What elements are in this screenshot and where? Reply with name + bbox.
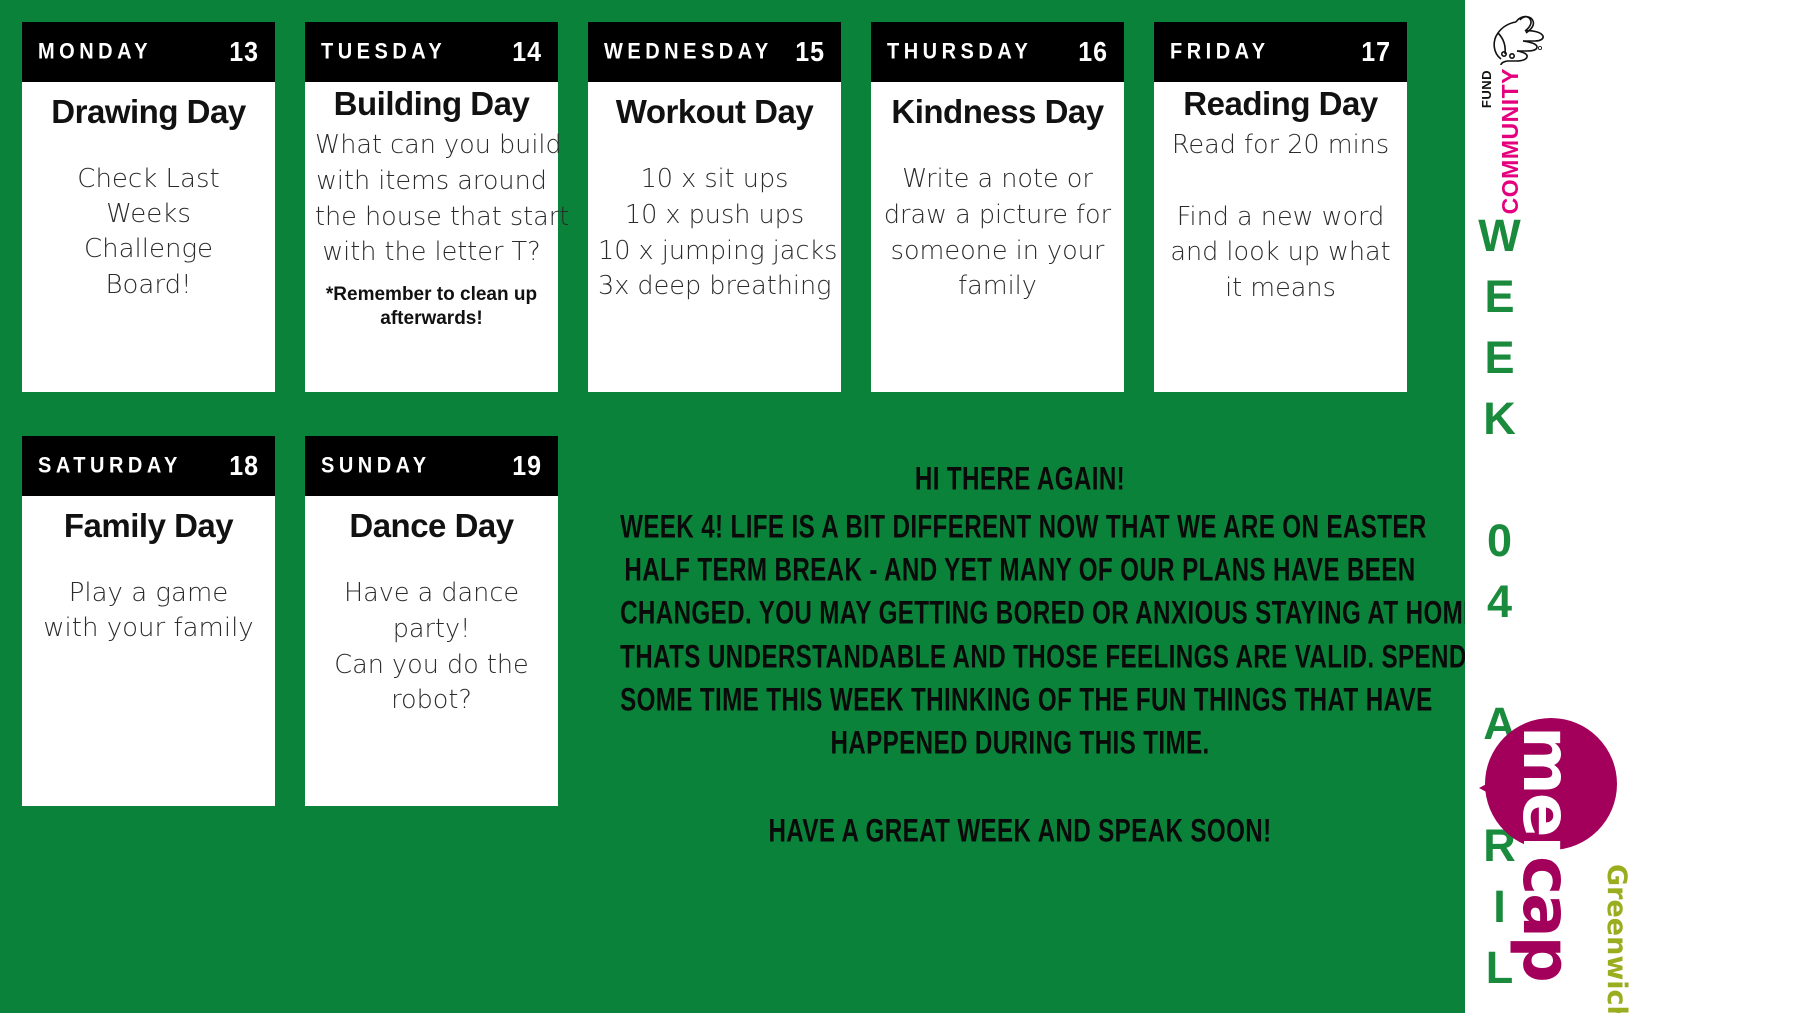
spacer: [598, 136, 831, 162]
activity-line: it means: [1164, 271, 1397, 307]
spacer: [32, 550, 265, 576]
mencap-greenwich-logo: men cap Greenwich: [1479, 718, 1679, 1003]
day-card-wednesday[interactable]: WEDNESDAY 15 Workout Day 10 x sit ups 10…: [588, 22, 841, 392]
day-number-saturday: 18: [229, 452, 259, 480]
card-body-thursday: Kindness Day Write a note or draw a pict…: [871, 82, 1124, 392]
spacer: [32, 136, 265, 162]
day-activity-friday: Read for 20 mins Find a new word and loo…: [1164, 128, 1397, 306]
card-header-saturday: SATURDAY 18: [22, 436, 275, 496]
day-name-saturday: SATURDAY: [38, 455, 182, 477]
card-header-sunday: SUNDAY 19: [305, 436, 558, 496]
card-header-monday: MONDAY 13: [22, 22, 275, 82]
day-card-sunday[interactable]: SUNDAY 19 Dance Day Have a dance party! …: [305, 436, 558, 806]
day-name-wednesday: WEDNESDAY: [604, 41, 773, 63]
activity-line: 10 x push ups: [598, 198, 831, 234]
community-fund-title: COMMUNITY: [1497, 68, 1524, 214]
activity-line-blank: [1164, 164, 1397, 200]
message-line: happened during this time.: [620, 716, 1420, 770]
right-sidebar: FUND COMMUNITY WEEK 04 APRIL 14-19 men c…: [1465, 0, 1800, 1013]
card-header-friday: FRIDAY 17: [1154, 22, 1407, 82]
message-body: Week 4! Life is a bit different now that…: [590, 500, 1450, 759]
day-number-friday: 17: [1361, 38, 1391, 66]
day-card-friday[interactable]: FRIDAY 17 Reading Day Read for 20 mins F…: [1154, 22, 1407, 392]
day-name-monday: MONDAY: [38, 41, 152, 63]
message-signoff: Have a great week and speak soon!: [620, 805, 1420, 857]
day-activity-sunday: Have a dance party! Can you do the robot…: [315, 576, 548, 719]
card-body-saturday: Family Day Play a game with your family: [22, 496, 275, 806]
activity-line: Read for 20 mins: [1164, 128, 1397, 164]
day-note-tuesday: *Remember to clean up afterwards!: [315, 283, 548, 331]
activity-line: Find a new word: [1164, 200, 1397, 236]
activity-line: with your family: [32, 611, 265, 646]
day-name-sunday: SUNDAY: [321, 455, 431, 477]
activity-line: 10 x sit ups: [598, 162, 831, 198]
message-greeting: Hi There Again!: [620, 452, 1420, 505]
day-card-monday[interactable]: MONDAY 13 Drawing Day Check Last Weeks C…: [22, 22, 275, 392]
mencap-word-part2: cap: [1513, 856, 1579, 981]
activity-line: Check Last: [32, 162, 265, 197]
activity-line: Weeks: [32, 197, 265, 232]
card-body-wednesday: Workout Day 10 x sit ups 10 x push ups 1…: [588, 82, 841, 392]
day-name-thursday: THURSDAY: [887, 41, 1032, 63]
day-title-wednesday: Workout Day: [598, 94, 831, 130]
card-body-sunday: Dance Day Have a dance party! Can you do…: [305, 496, 558, 806]
day-number-tuesday: 14: [512, 38, 542, 66]
card-body-friday: Reading Day Read for 20 mins Find a new …: [1154, 82, 1407, 392]
day-activity-saturday: Play a game with your family: [32, 576, 265, 646]
mencap-wordmark: men cap: [1513, 724, 1583, 1004]
activity-line: 3x deep breathing: [598, 269, 831, 305]
day-number-monday: 13: [229, 38, 259, 66]
activity-line: Challenge: [32, 232, 265, 267]
activity-line: Have a dance: [315, 576, 548, 612]
community-fund-subtitle: FUND: [1479, 70, 1494, 108]
activity-line: family: [881, 269, 1114, 305]
day-title-sunday: Dance Day: [315, 508, 548, 544]
day-number-thursday: 16: [1078, 38, 1108, 66]
day-number-wednesday: 15: [795, 38, 825, 66]
day-title-friday: Reading Day: [1164, 86, 1397, 122]
activity-line: Play a game: [32, 576, 265, 611]
week-row-top: MONDAY 13 Drawing Day Check Last Weeks C…: [22, 22, 1442, 392]
spacer: [881, 136, 1114, 162]
card-body-tuesday: Building Day What can you build with ite…: [305, 82, 558, 392]
weekly-challenge-poster: MONDAY 13 Drawing Day Check Last Weeks C…: [0, 0, 1800, 1013]
card-header-wednesday: WEDNESDAY 15: [588, 22, 841, 82]
day-title-thursday: Kindness Day: [881, 94, 1114, 130]
day-card-saturday[interactable]: SATURDAY 18 Family Day Play a game with …: [22, 436, 275, 806]
day-name-friday: FRIDAY: [1170, 41, 1270, 63]
day-title-monday: Drawing Day: [32, 94, 265, 130]
card-header-thursday: THURSDAY 16: [871, 22, 1124, 82]
card-body-monday: Drawing Day Check Last Weeks Challenge B…: [22, 82, 275, 392]
activity-line: the house that start: [315, 200, 548, 236]
day-activity-monday: Check Last Weeks Challenge Board!: [32, 162, 265, 302]
activity-line: Board!: [32, 268, 265, 303]
card-header-tuesday: TUESDAY 14: [305, 22, 558, 82]
day-activity-thursday: Write a note or draw a picture for someo…: [881, 162, 1114, 305]
activity-line: draw a picture for: [881, 198, 1114, 234]
activity-line: Can you do the: [315, 648, 548, 684]
activity-line: with items around: [315, 164, 548, 200]
day-title-tuesday: Building Day: [315, 86, 548, 122]
day-number-sunday: 19: [512, 452, 542, 480]
activity-line: party!: [315, 612, 548, 648]
day-name-tuesday: TUESDAY: [321, 41, 446, 63]
mencap-region-label: Greenwich: [1603, 864, 1630, 1013]
main-green-panel: MONDAY 13 Drawing Day Check Last Weeks C…: [0, 0, 1465, 1013]
day-title-saturday: Family Day: [32, 508, 265, 544]
activity-line: someone in your: [881, 234, 1114, 270]
activity-line: robot?: [315, 683, 548, 719]
activity-line: What can you build: [315, 128, 548, 164]
day-activity-tuesday: What can you build with items around the…: [315, 128, 548, 271]
crossed-fingers-hand-icon: [1487, 12, 1545, 72]
activity-line: and look up what: [1164, 235, 1397, 271]
day-activity-wednesday: 10 x sit ups 10 x push ups 10 x jumping …: [598, 162, 831, 305]
spacer: [315, 550, 548, 576]
day-card-thursday[interactable]: THURSDAY 16 Kindness Day Write a note or…: [871, 22, 1124, 392]
activity-line: with the letter T?: [315, 235, 548, 271]
activity-line: 10 x jumping jacks: [598, 234, 831, 270]
day-card-tuesday[interactable]: TUESDAY 14 Building Day What can you bui…: [305, 22, 558, 392]
weekly-message: Hi There Again! Week 4! Life is a bit di…: [590, 452, 1450, 847]
activity-line: Write a note or: [881, 162, 1114, 198]
